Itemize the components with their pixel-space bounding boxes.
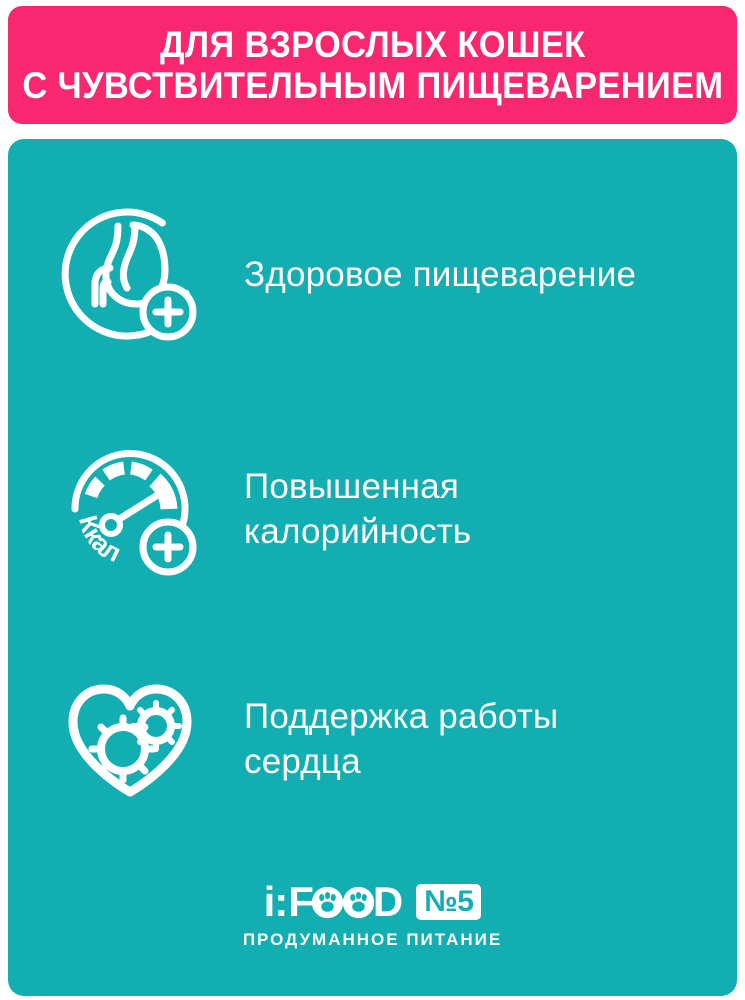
benefit-label-line-1: Повышенная	[244, 464, 471, 510]
product-number-text: №5	[424, 886, 473, 918]
benefit-label-line-2: сердца	[244, 739, 558, 785]
benefit-item-calories: Ккал Повышенная калорийность	[8, 429, 737, 589]
logo-wordmark-row: i: F D №5	[264, 881, 482, 923]
benefit-label-line-2: калорийность	[244, 509, 471, 555]
logo-tagline: ПРОДУМАННОЕ ПИТАНИЕ	[243, 930, 502, 950]
logo-letter-d: D	[373, 881, 403, 923]
benefit-label-digestion: Здоровое пищеварение	[244, 252, 636, 298]
benefit-label-heart: Поддержка работы сердца	[244, 694, 558, 785]
logo-prefix-text: i:	[264, 881, 288, 923]
calorie-gauge-plus-icon: Ккал	[54, 429, 206, 589]
benefit-label-line-1: Поддержка работы	[244, 694, 558, 740]
heart-gears-icon	[54, 659, 206, 819]
benefit-label-calories: Повышенная калорийность	[244, 464, 471, 555]
benefit-item-digestion: Здоровое пищеварение	[8, 195, 737, 355]
brand-logo: i: F D №5	[8, 881, 737, 950]
header-title-line-1: ДЛЯ ВЗРОСЛЫХ КОШЕК	[160, 25, 586, 64]
logo-wordmark: i: F D	[264, 881, 404, 923]
paw-print-icon	[342, 886, 375, 919]
benefit-item-heart: Поддержка работы сердца	[8, 659, 737, 819]
stomach-plus-icon	[54, 195, 206, 355]
header-title-line-2: С ЧУВСТВИТЕЛЬНЫМ ПИЩЕВАРЕНИЕМ	[22, 66, 723, 105]
benefits-panel: Здоровое пищеварение Ккал	[8, 139, 737, 996]
benefit-label-line-1: Здоровое пищеварение	[244, 252, 636, 298]
product-number-badge: №5	[416, 884, 481, 921]
header-banner: ДЛЯ ВЗРОСЛЫХ КОШЕК С ЧУВСТВИТЕЛЬНЫМ ПИЩЕ…	[8, 6, 737, 124]
paw-print-icon	[311, 886, 344, 919]
